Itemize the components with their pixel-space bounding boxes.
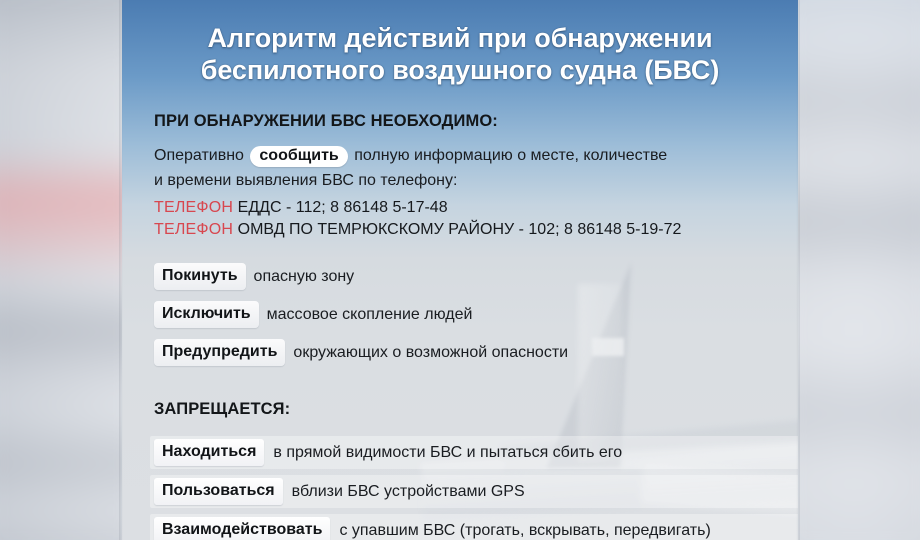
intro-line-1: Оперативно сообщить полную информацию о … xyxy=(154,145,798,167)
required-actions-list: Покинуть опасную зону Исключить массовое… xyxy=(154,263,798,366)
prohibited-keyword-1: Находиться xyxy=(154,439,264,466)
page-title-line-2: беспилотного воздушного судна (БВС) xyxy=(122,54,798,86)
prohibited-text-2: вблизи БВС устройствами GPS xyxy=(292,482,525,502)
phone-row-omvd: ТЕЛЕФОН ОМВД ПО ТЕМРЮКСКОМУ РАЙОНУ - 102… xyxy=(154,219,798,241)
prohibited-keyword-3: Взаимодействовать xyxy=(154,517,330,540)
phone-tag-label-2: ТЕЛЕФОН xyxy=(154,221,233,238)
page-title-line-1: Алгоритм действий при обнаружении xyxy=(122,22,798,54)
required-section-heading: ПРИ ОБНАРУЖЕНИИ БВС НЕОБХОДИМО: xyxy=(154,112,798,131)
phone-row-eds: ТЕЛЕФОН ЕДДС - 112; 8 86148 5-17-48 xyxy=(154,197,798,219)
blurred-left-backdrop xyxy=(0,0,122,540)
blurred-right-backdrop xyxy=(798,0,920,540)
intro-text-after: полную информацию о месте, количестве xyxy=(354,147,667,164)
action-text-1: опасную зону xyxy=(254,267,355,287)
section-required: ПРИ ОБНАРУЖЕНИИ БВС НЕОБХОДИМО: Оператив… xyxy=(154,112,798,366)
action-text-3: окружающих о возможной опасности xyxy=(293,343,568,363)
list-item: Исключить массовое скопление людей xyxy=(154,301,798,328)
poster-content: ПРИ ОБНАРУЖЕНИИ БВС НЕОБХОДИМО: Оператив… xyxy=(154,112,798,540)
list-item: Покинуть опасную зону xyxy=(154,263,798,290)
section-prohibited: ЗАПРЕЩАЕТСЯ: Находиться в прямой видимос… xyxy=(154,400,798,540)
intro-line-2: и времени выявления БВС по телефону: xyxy=(154,170,798,192)
prohibited-keyword-2: Пользоваться xyxy=(154,478,283,505)
list-item: Взаимодействовать с упавшим БВС (трогать… xyxy=(154,517,798,540)
list-item: Предупредить окружающих о возможной опас… xyxy=(154,339,798,366)
action-keyword-1: Покинуть xyxy=(154,263,246,290)
required-intro-paragraph: Оперативно сообщить полную информацию о … xyxy=(154,145,798,192)
phone-value-1: ЕДДС - 112; 8 86148 5-17-48 xyxy=(238,199,448,216)
poster-screenshot: Алгоритм действий при обнаружении беспил… xyxy=(0,0,920,540)
prohibited-items-list: Находиться в прямой видимости БВС и пыта… xyxy=(154,439,798,540)
prohibited-text-3: с упавшим БВС (трогать, вскрывать, перед… xyxy=(339,521,710,540)
phone-value-2: ОМВД ПО ТЕМРЮКСКОМУ РАЙОНУ - 102; 8 8614… xyxy=(238,221,682,238)
blur-layer-left xyxy=(0,0,122,540)
phone-list: ТЕЛЕФОН ЕДДС - 112; 8 86148 5-17-48 ТЕЛЕ… xyxy=(154,197,798,241)
intro-text-before: Оперативно xyxy=(154,147,244,164)
action-keyword-3: Предупредить xyxy=(154,339,285,366)
phone-tag-label-1: ТЕЛЕФОН xyxy=(154,199,233,216)
highlight-soobshchit: сообщить xyxy=(250,146,347,167)
page-title: Алгоритм действий при обнаружении беспил… xyxy=(122,22,798,86)
list-item: Находиться в прямой видимости БВС и пыта… xyxy=(154,439,798,466)
action-keyword-2: Исключить xyxy=(154,301,259,328)
infographic-panel: Алгоритм действий при обнаружении беспил… xyxy=(122,0,798,540)
list-item: Пользоваться вблизи БВС устройствами GPS xyxy=(154,478,798,505)
prohibited-section-heading: ЗАПРЕЩАЕТСЯ: xyxy=(154,400,798,419)
prohibited-text-1: в прямой видимости БВС и пытаться сбить … xyxy=(273,443,622,463)
action-text-2: массовое скопление людей xyxy=(267,305,473,325)
blur-layer-right xyxy=(798,0,920,540)
